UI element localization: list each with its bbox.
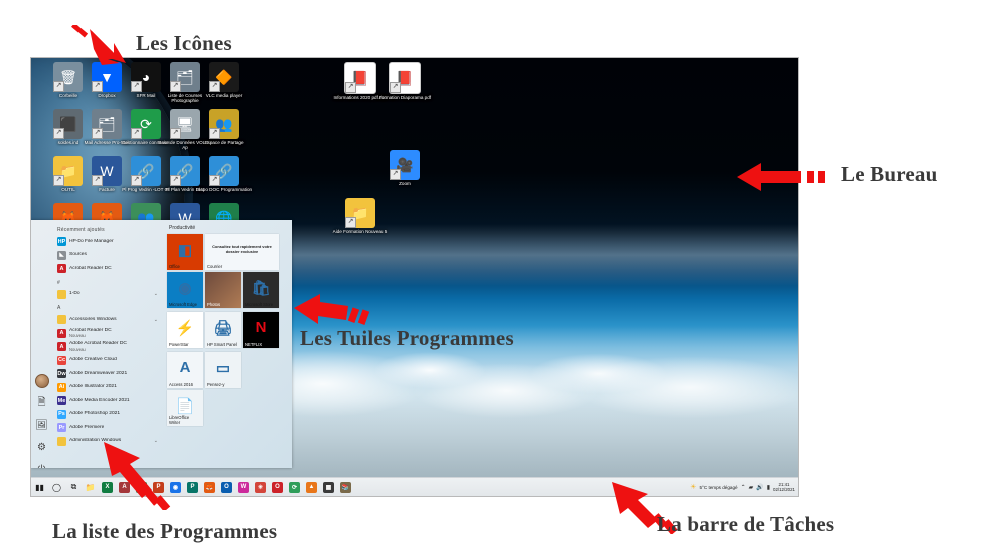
app-list-item[interactable]: PrAdobe Premiere [52, 421, 162, 435]
label-les-icones: Les Icônes [136, 31, 232, 56]
firefox-icon[interactable]: 🦊 [201, 478, 218, 496]
label-liste-programmes: La liste des Programmes [52, 519, 277, 544]
desktop-icon-label: Aide Formation Nouveau 5 [331, 229, 389, 234]
desktop-icon[interactable]: 🎥↗Zoom [376, 150, 434, 186]
tile-photos-tile-icon[interactable]: Photos [205, 272, 241, 308]
hp-smart-icon: 🖨 [205, 314, 241, 341]
tile-label: Courrier [205, 264, 279, 271]
desktop-icon-label: VLC media player [195, 93, 253, 98]
archive-icon-glyph: 📚 [340, 482, 351, 493]
taskbar-system-buttons[interactable]: ▮▮◯⧉📁 [31, 478, 99, 496]
app-list-item-label: 1-Do [69, 291, 80, 297]
desktop-icon-label: Diapo DOC Programmation [195, 187, 253, 192]
app-list-item[interactable]: AAcrobat Reader DC [52, 262, 162, 276]
tile-label: PowerStar [167, 342, 203, 349]
shortcut-overlay-icon: ↗ [209, 175, 220, 186]
office-icon: ◧ [167, 236, 203, 263]
app-list-item-label: Adobe Photoshop 2021 [69, 411, 120, 417]
dreamweaver-icon: Dw [57, 369, 66, 378]
clock-date: 02/12/2021 [773, 487, 795, 492]
creative-cloud-icon: Cc [57, 356, 66, 365]
tile-edge-icon[interactable]: ◉Microsoft Edge [167, 272, 203, 308]
shortcut-overlay-icon: ↗ [131, 128, 142, 139]
tile-libreoffice-writer-icon[interactable]: 📄LibreOffice Writer [167, 390, 203, 426]
folder-icon[interactable]: 📁↗ [345, 198, 375, 228]
app-list-item-label: Adobe Acrobat Reader DCNouveau [69, 341, 127, 352]
photos-tile-icon [205, 274, 241, 301]
pictures-icon[interactable]: 🖼 [31, 414, 52, 436]
page-root: 🗑↗Corbeille▼↗Dropbox◕↗SFR Mail🗂↗Liste de… [0, 0, 999, 559]
app-list-item-label: Adobe Premiere [69, 425, 104, 431]
source-icon: ◣ [57, 251, 66, 260]
system-tray[interactable]: ☀ 5°C temps dégagé ⌃ ▰ 🔊 ▮ 21:41 02/12/2… [690, 482, 798, 492]
archive-icon[interactable]: 📚 [337, 478, 354, 496]
app-list-item-label: Acrobat Reader DC [69, 266, 112, 272]
app-list-item[interactable]: 1-Do⌄ [52, 288, 162, 302]
shortcut-overlay-icon: ↗ [170, 81, 181, 92]
shortcut-overlay-icon: ↗ [390, 169, 401, 180]
network-shortcut-icon[interactable]: 🔗↗ [209, 156, 239, 186]
network-icon[interactable]: ▰ [749, 484, 754, 491]
tile-label: Office [167, 264, 203, 271]
shortcut-overlay-icon: ↗ [131, 81, 142, 92]
pdf-file-icon[interactable]: 📕↗ [344, 62, 376, 94]
shortcut-overlay-icon: ↗ [345, 82, 356, 93]
libreoffice-writer-icon: 📄 [167, 392, 203, 419]
desktop-icon-label: Zoom [376, 181, 434, 186]
settings-icon[interactable]: ⚙ [31, 436, 52, 458]
opera-icon[interactable]: O [269, 478, 286, 496]
shortcut-overlay-icon: ↗ [170, 175, 181, 186]
shortcut-overlay-icon: ↗ [92, 81, 103, 92]
label-les-tuiles: Les Tuiles Programmes [300, 326, 514, 351]
tile-powerstar-icon[interactable]: ⚡PowerStar [167, 312, 203, 348]
task-view-icon[interactable]: ⧉ [65, 478, 82, 496]
app-list-item-label: Adobe Media Encoder 2021 [69, 398, 130, 404]
folder-icon [57, 437, 66, 446]
start-menu-rail: 🗎🖼⚙⏻ [31, 220, 52, 468]
app-list-item[interactable]: MeAdobe Media Encoder 2021 [52, 394, 162, 408]
app-list-item[interactable]: AiAdobe Illustrator 2021 [52, 381, 162, 395]
app-list-item[interactable]: PsAdobe Photoshop 2021 [52, 408, 162, 422]
tile-netflix-icon[interactable]: NNETFLIX [243, 312, 279, 348]
acrobat-icon: A [57, 264, 66, 273]
desktop-icon[interactable]: 📕↗Formation Diaporama pdf [376, 62, 434, 100]
vlc-icon[interactable]: 🔶↗ [209, 62, 239, 92]
tile-office-icon[interactable]: ◧Office [167, 234, 203, 270]
start-menu-app-list[interactable]: Récemment ajoutésHPHP-Do File Manager◣So… [52, 220, 162, 468]
app-list-item-label: Accessoires Windows [69, 317, 117, 323]
start-menu-tiles[interactable]: Productivité◧OfficeConsultez tout rapide… [164, 220, 292, 468]
taskbar-clock[interactable]: 21:41 02/12/2021 [773, 482, 795, 492]
desktop-icon[interactable]: 🔗↗Diapo DOC Programmation [195, 156, 253, 192]
chevron-down-icon[interactable]: ⌄ [154, 317, 158, 323]
sync-icon[interactable]: ⟳ [286, 478, 303, 496]
mail-tile-icon: Consultez tout rapidement votre dossier … [205, 236, 279, 263]
tools-icon[interactable]: ✳ [252, 478, 269, 496]
app-list-item-label: Adobe Creative Cloud [69, 357, 117, 363]
opera-icon-glyph: O [272, 482, 283, 493]
desktop-icon-label: Formation Diaporama pdf [376, 95, 434, 100]
shortcut-overlay-icon: ↗ [131, 175, 142, 186]
calculator-icon[interactable]: ▦ [320, 478, 337, 496]
premiere-icon: Pr [57, 423, 66, 432]
outlook-icon[interactable]: O [218, 478, 235, 496]
shortcut-overlay-icon: ↗ [53, 128, 64, 139]
label-le-bureau: Le Bureau [841, 162, 938, 187]
app-list-item-label: HP-Do File Manager [69, 239, 114, 245]
app-list-item[interactable]: AAcrobat Reader DCNouveau [52, 327, 162, 341]
edge-icon: ◉ [167, 274, 203, 301]
hp-icon: HP [57, 237, 66, 246]
app-list-item-label: Sources [69, 252, 87, 258]
acrobat-icon: A [57, 329, 66, 338]
cortana-search-icon[interactable]: ◯ [48, 478, 65, 496]
sticky-note-icon: ▭ [205, 354, 241, 381]
access-icon: A [167, 354, 203, 381]
acrobat-icon: A [57, 342, 66, 351]
desktop-icon[interactable]: 📁↗Aide Formation Nouveau 5 [331, 198, 389, 234]
winamp-icon[interactable]: W [235, 478, 252, 496]
shortcut-overlay-icon: ↗ [345, 217, 356, 228]
app-list-item-label: Adobe Illustrator 2021 [69, 384, 117, 390]
arrow-le-bureau [735, 160, 825, 194]
chevron-up-icon[interactable]: ⌃ [741, 484, 746, 491]
shortcut-overlay-icon: ↗ [209, 128, 220, 139]
app-list-item[interactable]: ◣Sources [52, 249, 162, 263]
sync-icon-glyph: ⟳ [289, 482, 300, 493]
arrow-les-icones [70, 25, 130, 65]
tile-label: Access 2016 [167, 382, 203, 389]
app-list-item[interactable]: DwAdobe Dreamweaver 2021 [52, 367, 162, 381]
shortcut-overlay-icon: ↗ [53, 81, 64, 92]
shortcut-overlay-icon: ↗ [209, 81, 220, 92]
shortcut-overlay-icon: ↗ [390, 82, 401, 93]
tools-icon-glyph: ✳ [255, 482, 266, 493]
user-avatar[interactable] [31, 370, 52, 392]
battery-icon[interactable]: ▮ [767, 484, 770, 491]
app-list-item-label: Adobe Dreamweaver 2021 [69, 371, 127, 377]
power-icon[interactable]: ⏻ [31, 458, 52, 468]
outlook-icon-glyph: O [221, 482, 232, 493]
tile-store-icon[interactable]: 🛍Microsoft Store [243, 272, 279, 308]
desktop-icon-label: Espace de Partage [195, 140, 253, 145]
calculator-icon-glyph: ▦ [323, 482, 334, 493]
app-list-group-header: # [52, 276, 162, 288]
app-list-item[interactable]: Accessoires Windows⌄ [52, 313, 162, 327]
pdf-file-icon[interactable]: 📕↗ [389, 62, 421, 94]
shortcut-overlay-icon: ↗ [170, 128, 181, 139]
weather-text: 5°C temps dégagé [699, 485, 737, 490]
tile-sticky-note-icon[interactable]: ▭Pensez-y [205, 352, 241, 388]
tile-label: Microsoft Store [243, 302, 279, 309]
tile-access-icon[interactable]: AAccess 2016 [167, 352, 203, 388]
tile-mail-tile-icon[interactable]: Consultez tout rapidement votre dossier … [205, 234, 279, 270]
publisher-icon[interactable]: P [184, 478, 201, 496]
tile-group-title: Productivité [169, 225, 292, 231]
publisher-icon-glyph: P [187, 482, 198, 493]
start-menu[interactable]: 🗎🖼⚙⏻ Récemment ajoutésHPHP-Do File Manag… [31, 220, 292, 468]
app-list-item[interactable]: CcAdobe Creative Cloud [52, 354, 162, 368]
avatar[interactable] [35, 374, 49, 388]
label-barre-taches: La barre de Tâches [657, 512, 834, 537]
app-list-item[interactable]: HPHP-Do File Manager [52, 235, 162, 249]
photoshop-icon: Ps [57, 410, 66, 419]
weather-sun-icon: ☀ [690, 483, 696, 491]
illustrator-icon: Ai [57, 383, 66, 392]
shortcut-overlay-icon: ↗ [92, 128, 103, 139]
tile-label: NETFLIX [243, 342, 279, 349]
windows-screenshot: 🗑↗Corbeille▼↗Dropbox◕↗SFR Mail🗂↗Liste de… [30, 57, 799, 497]
powerstar-icon: ⚡ [167, 314, 203, 341]
tile-label: Photos [205, 302, 241, 309]
documents-icon[interactable]: 🗎 [31, 392, 52, 414]
app-list-item[interactable]: AAdobe Acrobat Reader DCNouveau [52, 340, 162, 354]
vlc-icon-glyph: ▲ [306, 482, 317, 493]
chevron-down-icon[interactable]: ⌄ [154, 291, 158, 297]
start-button[interactable]: ▮▮ [31, 478, 48, 496]
shortcut-overlay-icon: ↗ [92, 175, 103, 186]
app-list-group-header: A [52, 301, 162, 313]
shortcut-overlay-icon: ↗ [53, 175, 64, 186]
file-explorer-icon[interactable]: 📁 [82, 478, 99, 496]
app-list-group-header: Récemment ajoutés [52, 223, 162, 235]
vlc-icon[interactable]: ▲ [303, 478, 320, 496]
firefox-icon-glyph: 🦊 [204, 482, 215, 493]
tile-hp-smart-icon[interactable]: 🖨HP Smart Panel [205, 312, 241, 348]
shared-folder-icon[interactable]: 👥↗ [209, 109, 239, 139]
tile-label: Microsoft Edge [167, 302, 203, 309]
folder-icon [57, 315, 66, 324]
desktop-icon[interactable]: 🔶↗VLC media player [195, 62, 253, 98]
volume-icon[interactable]: 🔊 [756, 484, 763, 491]
folder-icon [57, 290, 66, 299]
media-encoder-icon: Me [57, 396, 66, 405]
zoom-app-icon[interactable]: 🎥↗ [390, 150, 420, 180]
arrow-liste-programmes [100, 438, 178, 510]
store-icon: 🛍 [243, 274, 279, 301]
tile-label: Pensez-y [205, 382, 241, 389]
winamp-icon-glyph: W [238, 482, 249, 493]
tile-label: HP Smart Panel [205, 342, 241, 349]
netflix-icon: N [243, 314, 279, 341]
app-list-item-label: Acrobat Reader DCNouveau [69, 328, 112, 339]
desktop-icon[interactable]: 👥↗Espace de Partage [195, 109, 253, 145]
